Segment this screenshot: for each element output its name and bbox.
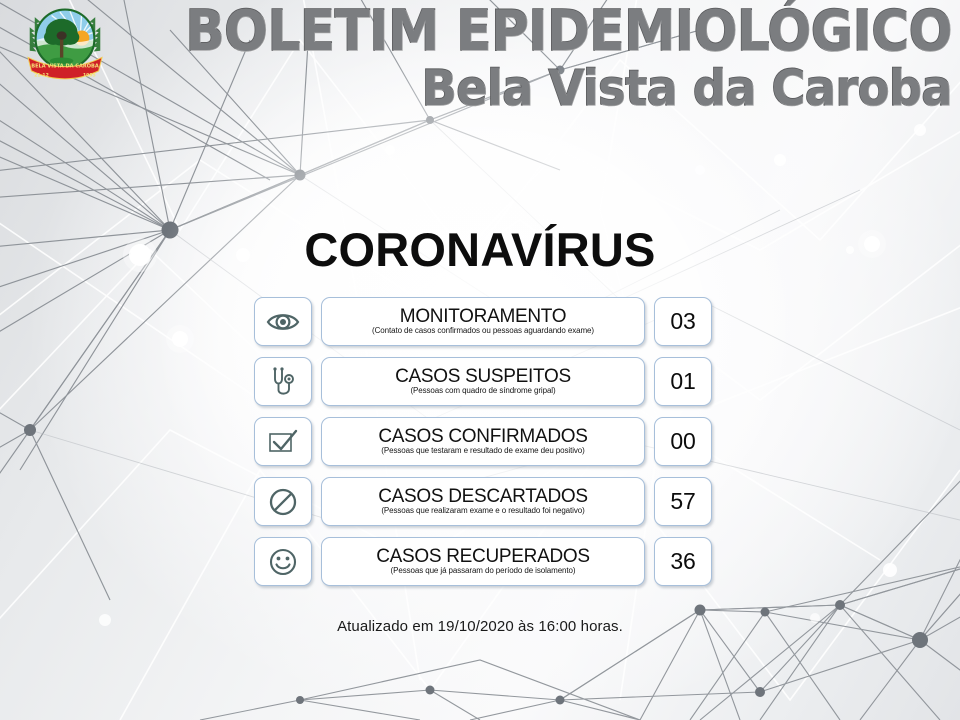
table-row: CASOS RECUPERADOS (Pessoas que já passar… [254, 537, 712, 586]
row-title: CASOS DESCARTADOS [378, 487, 588, 507]
page-subtitle: Bela Vista da Caroba [57, 64, 952, 113]
slide-canvas: BELA VISTA DA CAROBA 21-12 1995 BOLETIM … [0, 0, 960, 720]
prohibition-icon [268, 487, 298, 517]
row-title: CASOS SUSPEITOS [395, 367, 571, 387]
row-value: 00 [654, 417, 712, 466]
updated-timestamp: Atualizado em 19/10/2020 às 16:00 horas. [0, 618, 960, 635]
row-description: (Contato de casos confirmados ou pessoas… [372, 327, 594, 336]
label-box: CASOS SUSPEITOS (Pessoas com quadro de s… [321, 357, 645, 406]
label-box: CASOS RECUPERADOS (Pessoas que já passar… [321, 537, 645, 586]
row-description: (Pessoas que testaram e resultado de exa… [381, 447, 584, 456]
row-value: 57 [654, 477, 712, 526]
row-description: (Pessoas com quadro de síndrome gripal) [410, 387, 555, 396]
table-row: MONITORAMENTO (Contato de casos confirma… [254, 297, 712, 346]
eye-icon-box [254, 297, 312, 346]
row-title: MONITORAMENTO [400, 307, 566, 327]
table-row: CASOS CONFIRMADOS (Pessoas que testaram … [254, 417, 712, 466]
row-value: 03 [654, 297, 712, 346]
label-box: CASOS DESCARTADOS (Pessoas que realizara… [321, 477, 645, 526]
header-title-block: BOLETIM EPIDEMIOLÓGICO Bela Vista da Car… [0, 4, 952, 113]
checkbox-check-icon-box [254, 417, 312, 466]
row-value: 01 [654, 357, 712, 406]
row-title: CASOS RECUPERADOS [376, 547, 589, 567]
row-title: CASOS CONFIRMADOS [378, 427, 587, 447]
page-title: BOLETIM EPIDEMIOLÓGICO [76, 4, 952, 60]
stats-table: MONITORAMENTO (Contato de casos confirma… [254, 297, 712, 597]
label-box: MONITORAMENTO (Contato de casos confirma… [321, 297, 645, 346]
prohibition-icon-box [254, 477, 312, 526]
table-row: CASOS DESCARTADOS (Pessoas que realizara… [254, 477, 712, 526]
stethoscope-icon-box [254, 357, 312, 406]
section-heading: CORONAVÍRUS [0, 222, 960, 277]
checkbox-check-icon [267, 428, 299, 456]
row-description: (Pessoas que já passaram do período de i… [391, 567, 576, 576]
table-row: CASOS SUSPEITOS (Pessoas com quadro de s… [254, 357, 712, 406]
smiley-face-icon [268, 547, 298, 577]
smiley-face-icon-box [254, 537, 312, 586]
row-description: (Pessoas que realizaram exame e o result… [381, 507, 584, 516]
eye-icon [266, 311, 300, 333]
label-box: CASOS CONFIRMADOS (Pessoas que testaram … [321, 417, 645, 466]
row-value: 36 [654, 537, 712, 586]
stethoscope-icon [269, 366, 297, 398]
